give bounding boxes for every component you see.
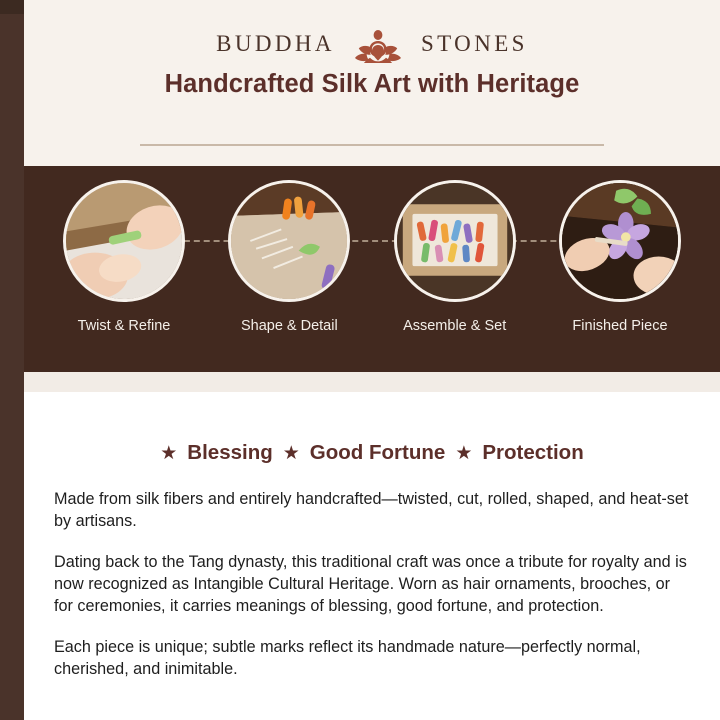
header-section: BUDDHA STONES Handcrafted S [24,0,720,166]
hands-twisting-silk-fiber-photo [63,180,185,302]
badge-good-fortune: Good Fortune [310,441,446,465]
finished-purple-silk-flower-photo [559,180,681,302]
description-section: ★ Blessing ★ Good Fortune ★ Protection M… [24,372,720,720]
tray-of-silk-components-photo [394,180,516,302]
brand-name-right: STONES [421,31,528,57]
left-frame-edge [0,0,24,720]
badge-blessing: Blessing [187,441,272,465]
star-icon: ★ [283,444,300,463]
paragraph-uniqueness: Each piece is unique; subtle marks refle… [54,636,690,680]
step-label: Shape & Detail [223,318,355,334]
brand-name-left: BUDDHA [216,31,335,57]
description-paragraphs: Made from silk fibers and entirely handc… [24,488,720,680]
step-label: Assemble & Set [389,318,521,334]
step-item: Finished Piece [554,180,686,334]
step-item: Assemble & Set [389,180,521,334]
star-icon: ★ [160,444,177,463]
top-left-frame-corner [0,0,24,14]
step-item: Twist & Refine [58,180,190,334]
page-title: Handcrafted Silk Art with Heritage [24,70,720,99]
step-item: Shape & Detail [223,180,355,334]
product-info-card: BUDDHA STONES Handcrafted S [0,0,720,720]
star-icon: ★ [455,444,472,463]
badge-protection: Protection [482,441,583,465]
header-divider [140,144,604,146]
brand-lockup: BUDDHA STONES [24,0,720,52]
step-label: Finished Piece [554,318,686,334]
silk-strands-on-board-photo [228,180,350,302]
paragraph-heritage: Dating back to the Tang dynasty, this tr… [54,551,690,617]
meaning-badges: ★ Blessing ★ Good Fortune ★ Protection [24,441,720,465]
paragraph-materials: Made from silk fibers and entirely handc… [54,488,690,532]
body-top-strip [24,372,720,392]
process-steps-section: Twist & Refine [24,166,720,372]
step-label: Twist & Refine [58,318,190,334]
lotus-meditation-icon [349,23,407,65]
